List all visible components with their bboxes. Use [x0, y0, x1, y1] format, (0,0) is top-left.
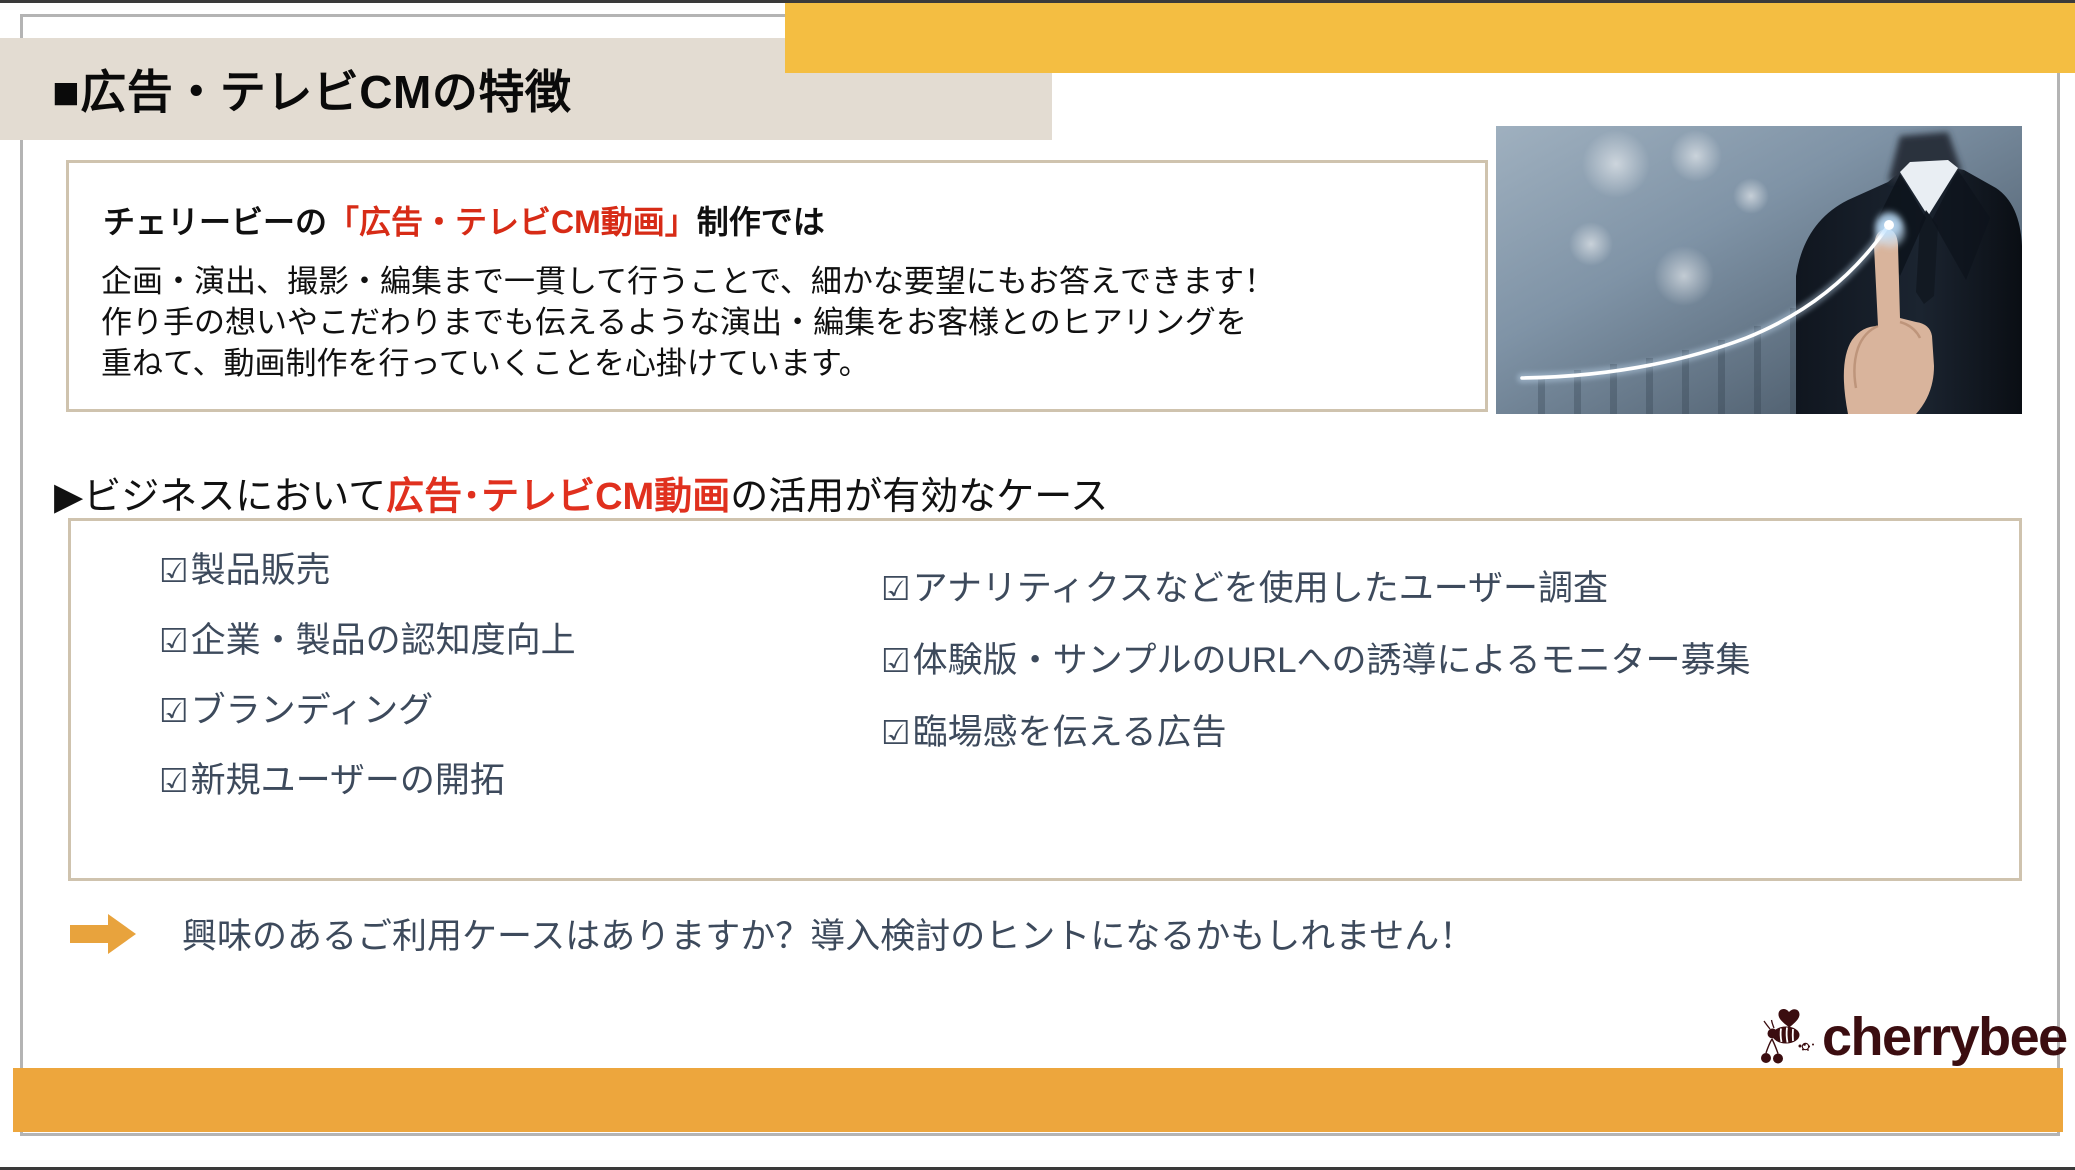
list-item: ☑ ブランディング	[159, 693, 576, 728]
list-item-label: ブランディング	[191, 693, 434, 728]
cherrybee-logo: cherrybee	[1756, 1006, 2034, 1068]
right-arrow-icon	[70, 912, 136, 956]
callout-text: 興味のあるご利用ケースはありますか？導入検討のヒントになるかもしれません！	[182, 908, 1474, 959]
intro-heading-before: チェリービーの	[103, 204, 327, 240]
bee-with-cherries-icon	[1756, 1008, 1818, 1066]
section-heading-after: の活用が有効なケース	[730, 476, 1108, 518]
checked-checkbox-icon: ☑	[881, 644, 911, 677]
checked-checkbox-icon: ☑	[881, 572, 911, 605]
section-heading: ▶ビジネスにおいて広告･テレビCM動画の活用が有効なケース	[54, 465, 1108, 520]
list-item: ☑ 臨場感を伝える広告	[881, 715, 1751, 750]
checked-checkbox-icon: ☑	[159, 764, 189, 797]
top-orange-accent-block	[785, 3, 2075, 73]
intro-body-text: 企画・演出、撮影・編集まで一貫して行うことで、細かな要望にもお答えできます！ 作…	[101, 261, 1275, 385]
list-item-label: 企業・製品の認知度向上	[191, 623, 576, 658]
list-item-label: 臨場感を伝える広告	[913, 715, 1227, 750]
bottom-orange-bar	[13, 1068, 2063, 1132]
use-cases-left-column: ☑ 製品販売 ☑ 企業・製品の認知度向上 ☑ ブランディング ☑ 新規ユーザーの…	[159, 553, 576, 833]
checked-checkbox-icon: ☑	[159, 624, 189, 657]
hero-photo-illustration	[1496, 126, 2022, 414]
checked-checkbox-icon: ☑	[881, 716, 911, 749]
checked-checkbox-icon: ☑	[159, 694, 189, 727]
list-item-label: 製品販売	[191, 553, 331, 588]
page-title: ■広告・テレビCMの特徴	[52, 56, 571, 122]
callout-row: 興味のあるご利用ケースはありますか？導入検討のヒントになるかもしれません！	[70, 908, 1474, 959]
list-item: ☑ 新規ユーザーの開拓	[159, 763, 576, 798]
use-cases-right-column: ☑ アナリティクスなどを使用したユーザー調査 ☑ 体験版・サンプルのURLへの誘…	[881, 571, 1751, 787]
intro-heading-after: 制作では	[697, 204, 825, 240]
section-heading-before: ▶ビジネスにおいて	[54, 476, 386, 518]
checked-checkbox-icon: ☑	[159, 554, 189, 587]
list-item: ☑ 製品販売	[159, 553, 576, 588]
intro-heading-accent: 「広告・テレビCM動画」	[327, 204, 697, 240]
slide-canvas: ■広告・テレビCMの特徴 チェリービーの「広告・テレビCM動画」制作では 企画・…	[0, 0, 2075, 1170]
intro-text-box: チェリービーの「広告・テレビCM動画」制作では 企画・演出、撮影・編集まで一貫し…	[66, 160, 1488, 412]
list-item-label: アナリティクスなどを使用したユーザー調査	[913, 571, 1608, 606]
list-item-label: 体験版・サンプルのURLへの誘導によるモニター募集	[913, 643, 1751, 678]
list-item-label: 新規ユーザーの開拓	[191, 763, 505, 798]
list-item: ☑ アナリティクスなどを使用したユーザー調査	[881, 571, 1751, 606]
intro-heading: チェリービーの「広告・テレビCM動画」制作では	[103, 197, 825, 243]
list-item: ☑ 企業・製品の認知度向上	[159, 623, 576, 658]
section-heading-accent: 広告･テレビCM動画	[386, 476, 730, 518]
logo-wordmark: cherrybee	[1822, 1010, 2067, 1064]
hero-photo	[1496, 126, 2022, 414]
list-item: ☑ 体験版・サンプルのURLへの誘導によるモニター募集	[881, 643, 1751, 678]
use-cases-box: ☑ 製品販売 ☑ 企業・製品の認知度向上 ☑ ブランディング ☑ 新規ユーザーの…	[68, 518, 2022, 881]
